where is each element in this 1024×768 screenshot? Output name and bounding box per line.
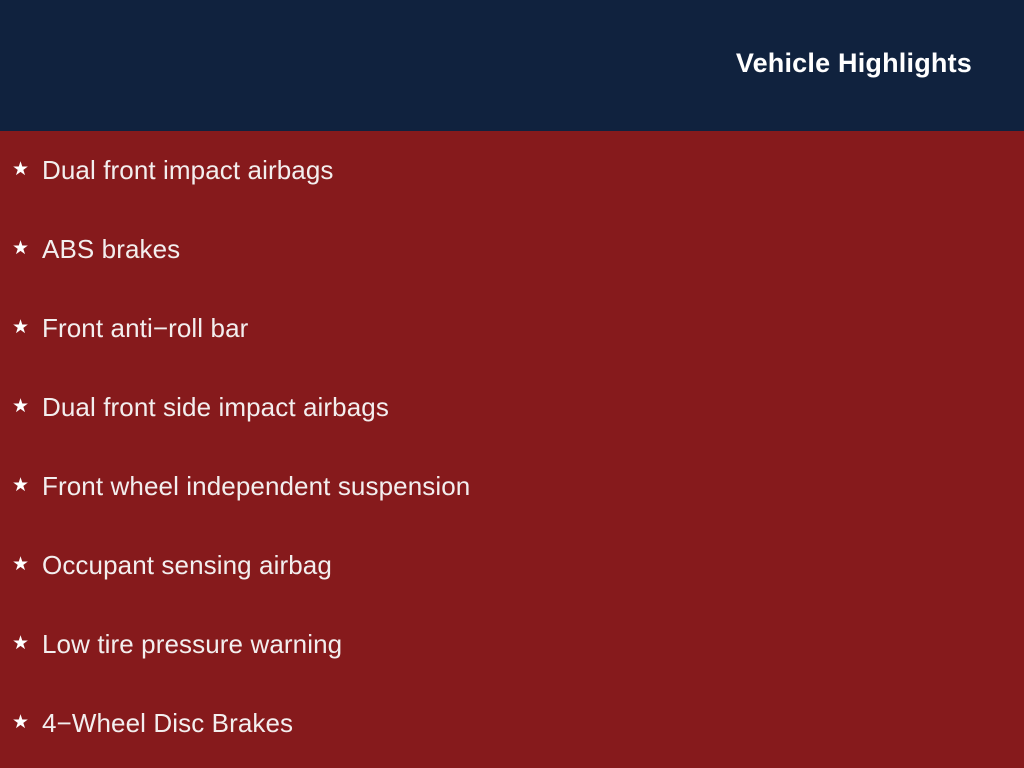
feature-label: ABS brakes: [42, 233, 180, 265]
slide-header-band: Vehicle Highlights: [0, 0, 1024, 131]
feature-label: Occupant sensing airbag: [42, 549, 332, 581]
star-bullet-icon: ★: [12, 397, 42, 416]
star-bullet-icon: ★: [12, 476, 42, 495]
list-item: ★ Front anti−roll bar: [12, 311, 1012, 345]
list-item: ★ Dual front impact airbags: [12, 153, 1012, 187]
star-bullet-icon: ★: [12, 318, 42, 337]
list-item: ★ 4−Wheel Disc Brakes: [12, 706, 1012, 740]
vehicle-highlights-slide: Vehicle Highlights ★ Dual front impact a…: [0, 0, 1024, 768]
star-bullet-icon: ★: [12, 634, 42, 653]
feature-label: Front wheel independent suspension: [42, 470, 470, 502]
list-item: ★ Dual front side impact airbags: [12, 390, 1012, 424]
list-item: ★ ABS brakes: [12, 232, 1012, 266]
feature-label: 4−Wheel Disc Brakes: [42, 707, 293, 739]
list-item: ★ Low tire pressure warning: [12, 627, 1012, 661]
feature-label: Low tire pressure warning: [42, 628, 342, 660]
star-bullet-icon: ★: [12, 239, 42, 258]
highlights-body: ★ Dual front impact airbags ★ ABS brakes…: [0, 131, 1024, 768]
star-bullet-icon: ★: [12, 160, 42, 179]
star-bullet-icon: ★: [12, 713, 42, 732]
feature-label: Dual front impact airbags: [42, 154, 334, 186]
feature-label: Front anti−roll bar: [42, 312, 248, 344]
star-bullet-icon: ★: [12, 555, 42, 574]
feature-label: Dual front side impact airbags: [42, 391, 389, 423]
list-item: ★ Front wheel independent suspension: [12, 469, 1012, 503]
list-item: ★ Occupant sensing airbag: [12, 548, 1012, 582]
page-title: Vehicle Highlights: [736, 48, 972, 78]
